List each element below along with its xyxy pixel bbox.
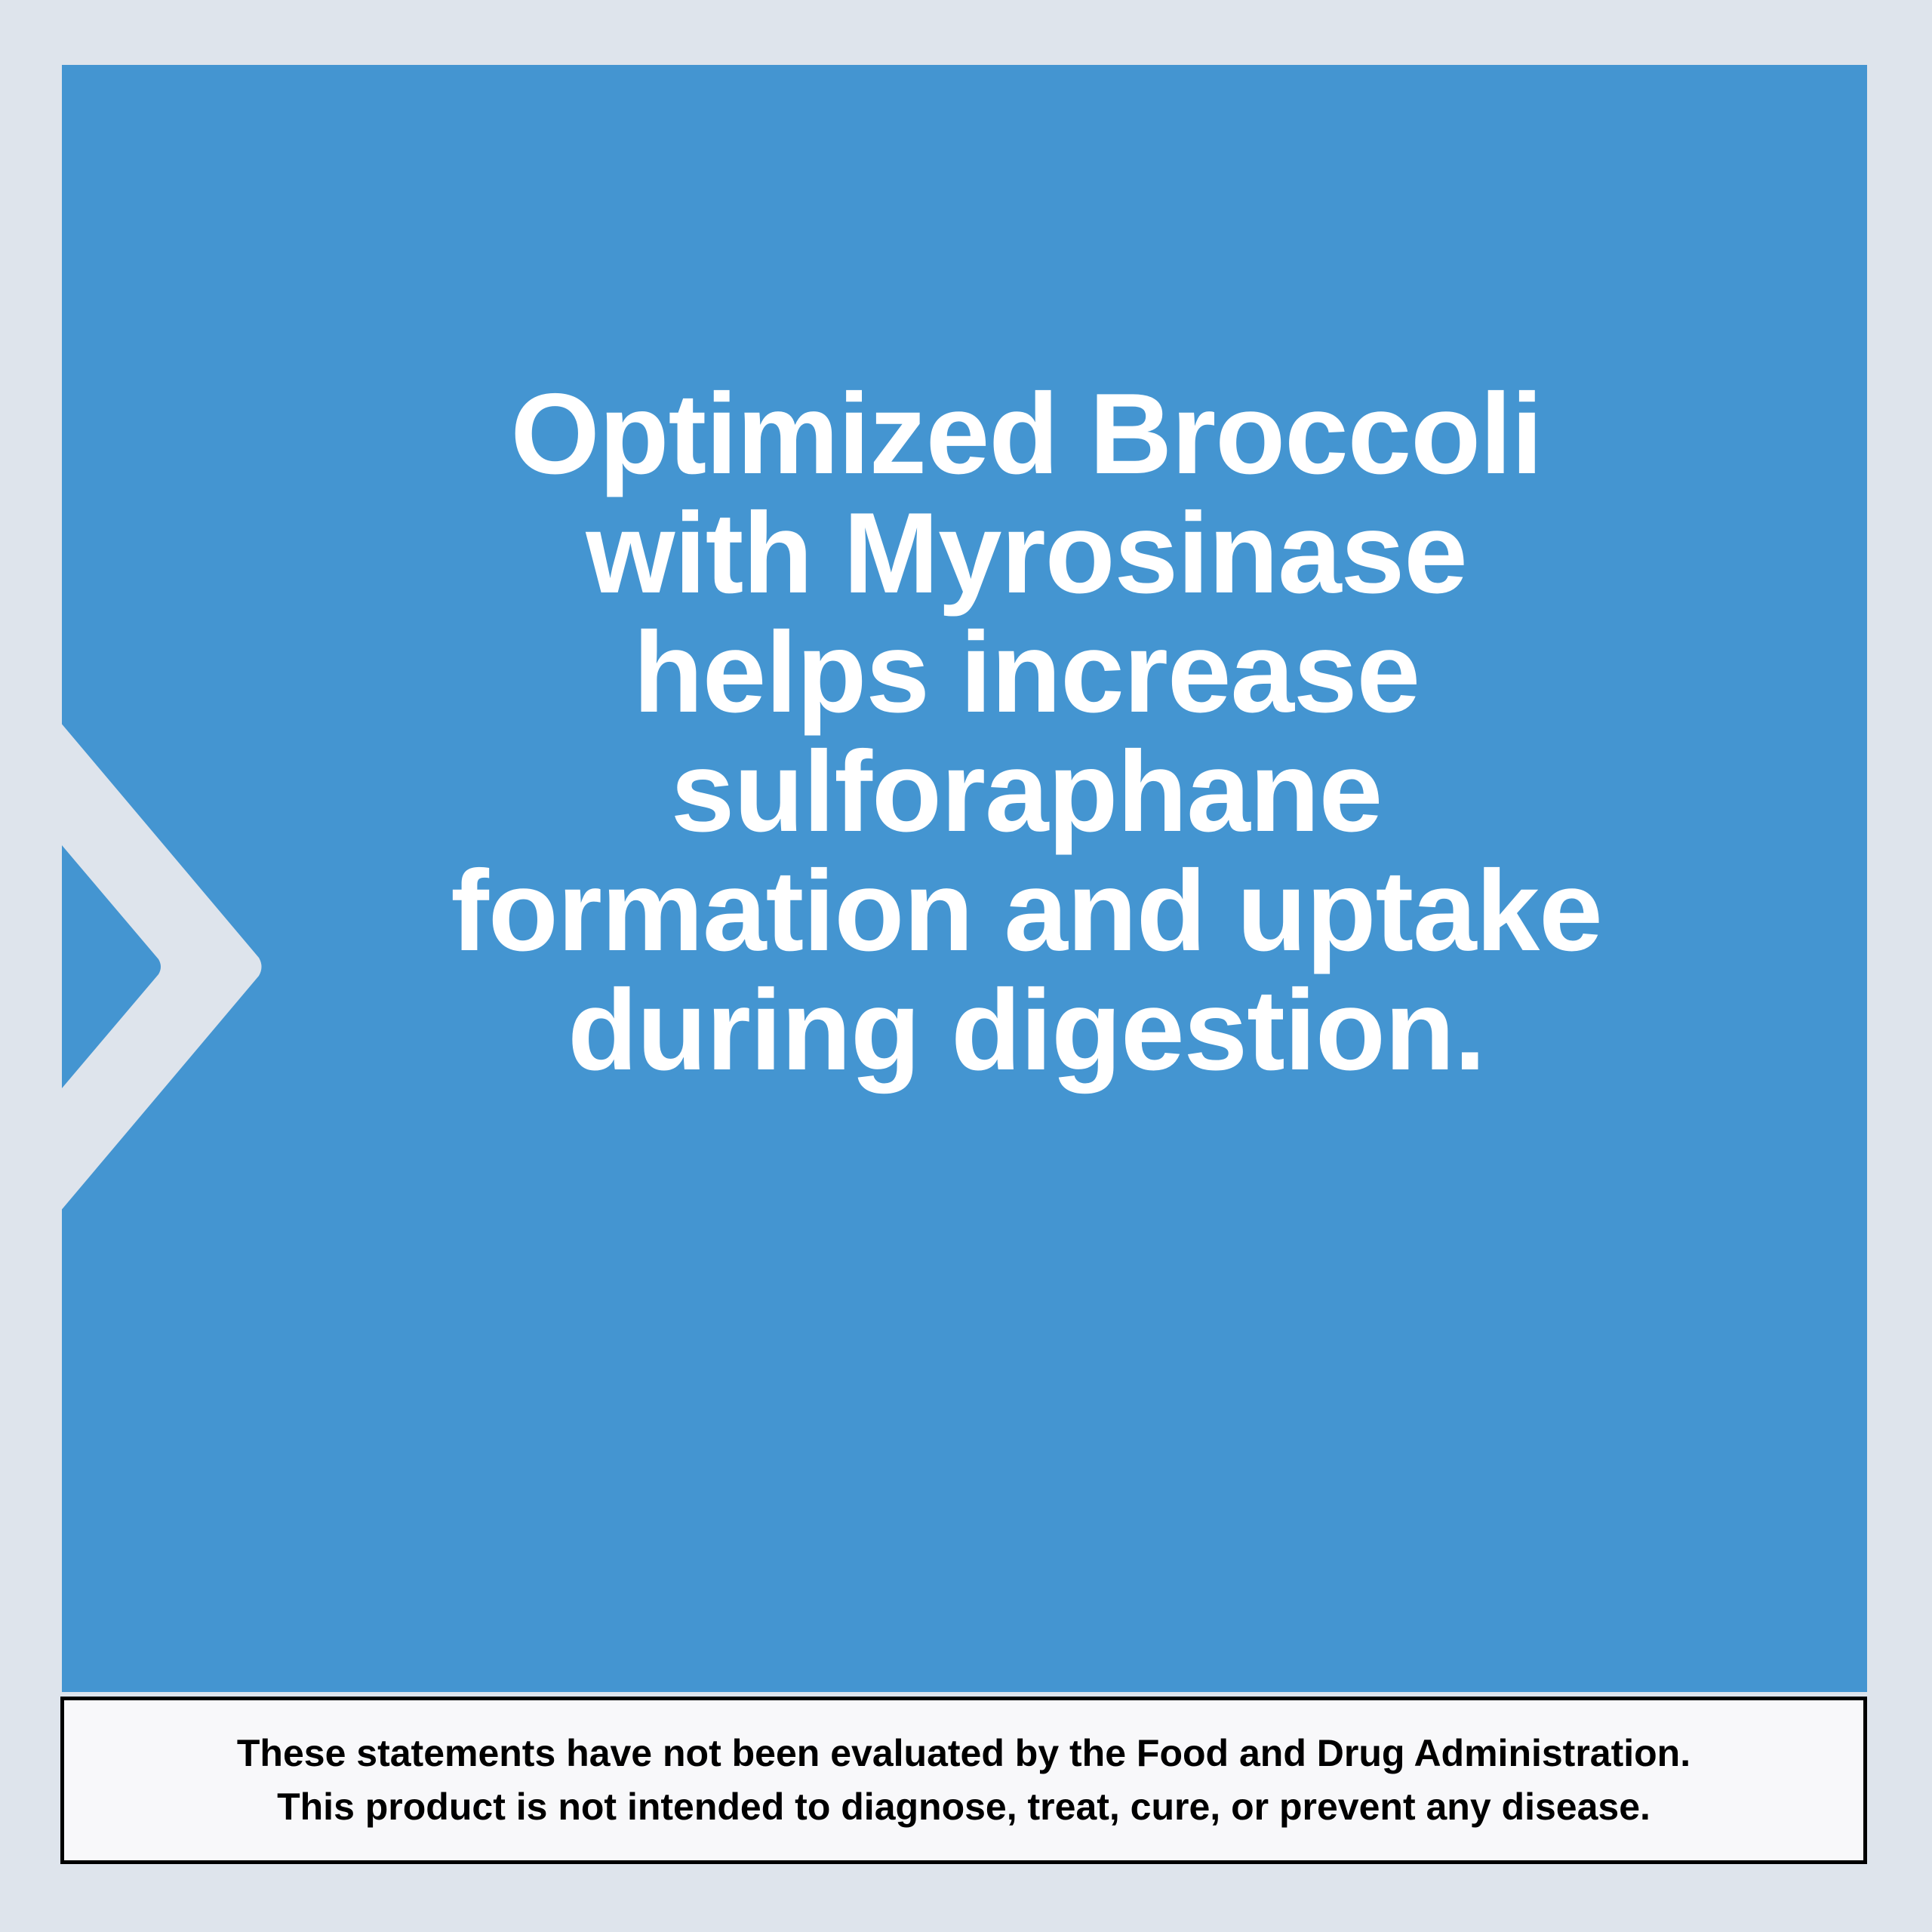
headline-line-3: helps increase [124,613,1867,732]
headline-line-4: sulforaphane [124,732,1867,851]
poster-canvas: Optimized Broccoli with Myrosinase helps… [0,0,1932,1932]
page-title: Optimized Broccoli with Myrosinase helps… [124,374,1867,1090]
fda-disclaimer-box: These statements have not been evaluated… [60,1697,1867,1864]
disclaimer-line-2: This product is not intended to diagnose… [277,1780,1651,1834]
headline-line-6: during digestion. [124,971,1867,1090]
headline-line-5: formation and uptake [124,851,1867,971]
headline-line-1: Optimized Broccoli [124,374,1867,494]
disclaimer-line-1: These statements have not been evaluated… [237,1727,1690,1780]
headline-line-2: with Myrosinase [124,494,1867,613]
blue-content-panel: Optimized Broccoli with Myrosinase helps… [62,65,1867,1692]
